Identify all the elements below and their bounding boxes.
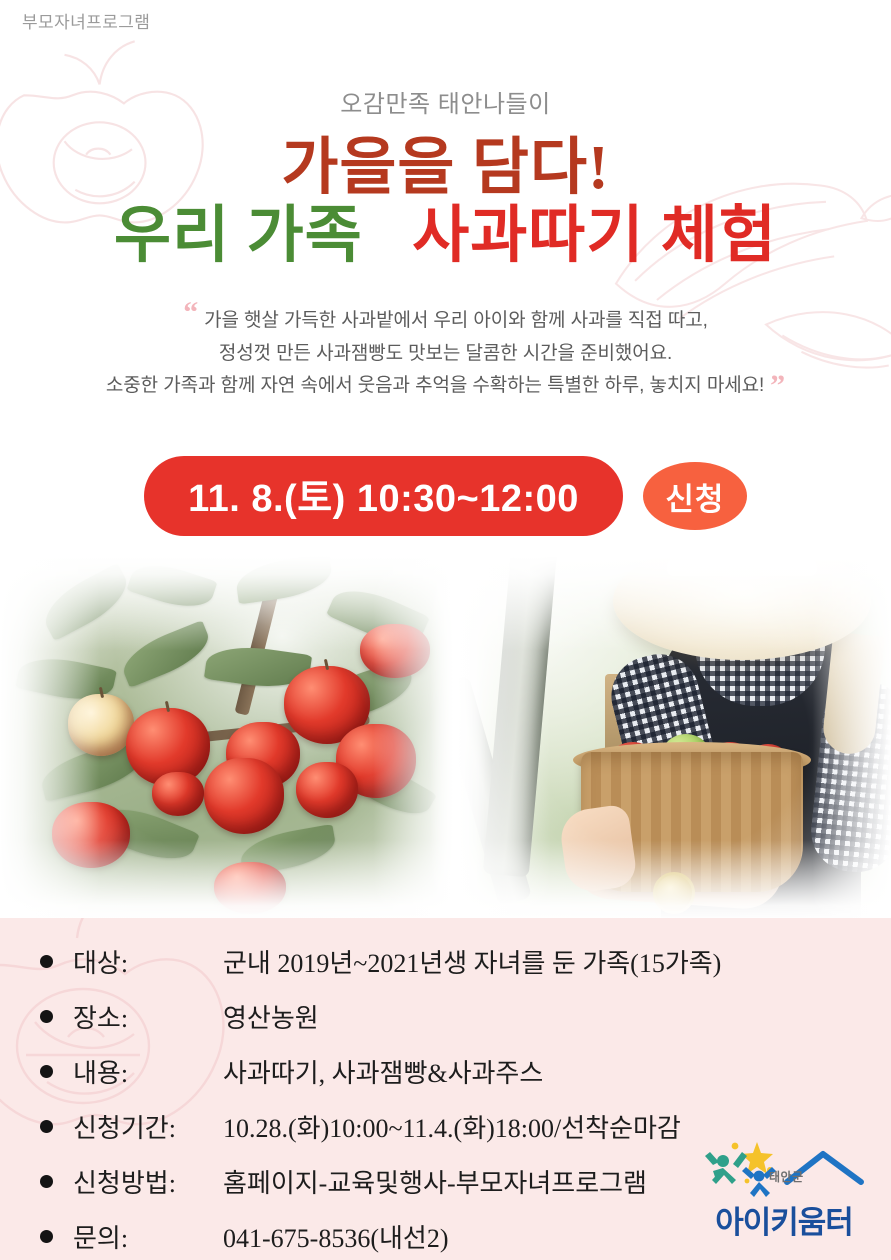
apple [68, 694, 134, 756]
main-title-line1: 가을을 담다! [0, 136, 891, 201]
photo-person-basket [455, 556, 891, 920]
main-title-green-part: 우리 가족 [114, 202, 363, 270]
list-item: 대상: 군내 2019년~2021년생 자녀를 둔 가족(15가족) [0, 934, 891, 989]
schedule-row: 11. 8.(토) 10:30~12:00 신청 [0, 456, 891, 536]
info-label: 문의: [73, 1218, 223, 1255]
apple [360, 624, 430, 678]
description-line-2: 정성껏 만든 사과잼빵도 맛보는 달콤한 시간을 준비했어요. [0, 338, 891, 371]
info-panel: 대상: 군내 2019년~2021년생 자녀를 둔 가족(15가족) 장소: 영… [0, 918, 891, 1260]
info-value: 041-675-8536(내선2) [223, 1218, 448, 1255]
info-label: 신청기간: [73, 1108, 223, 1145]
main-title-red-part: 사과따기 체험 [412, 202, 777, 270]
description-line-1: “가을 햇살 가득한 사과밭에서 우리 아이와 함께 사과를 직접 따고, [0, 305, 891, 338]
apple [214, 862, 286, 914]
description-block: “가을 햇살 가득한 사과밭에서 우리 아이와 함께 사과를 직접 따고, 정성… [0, 305, 891, 403]
photo-apple-tree [0, 556, 455, 920]
apple [204, 758, 284, 834]
photo-band [0, 556, 891, 920]
bullet-icon [40, 1065, 53, 1078]
program-kicker: 부모자녀프로그램 [22, 8, 150, 33]
apply-button[interactable]: 신청 [643, 462, 747, 530]
poster-root: 부모자녀프로그램 오감만족 태안나들이 가을을 담다! 우리 가족 사과따기 체… [0, 0, 891, 1260]
bullet-icon [40, 1010, 53, 1023]
info-label: 대상: [73, 943, 223, 980]
bullet-icon [40, 1175, 53, 1188]
info-label: 장소: [73, 998, 223, 1035]
info-label: 내용: [73, 1053, 223, 1090]
info-value: 영산농원 [223, 998, 319, 1035]
bullet-icon [40, 1120, 53, 1133]
straw-hat-band [667, 560, 817, 576]
info-value: 홈페이지-교육및행사-부모자녀프로그램 [223, 1163, 647, 1200]
apple [296, 762, 358, 818]
event-date-pill: 11. 8.(토) 10:30~12:00 [144, 456, 623, 536]
list-item: 장소: 영산농원 [0, 989, 891, 1044]
info-value: 군내 2019년~2021년생 자녀를 둔 가족(15가족) [223, 943, 721, 980]
description-text-3: 소중한 가족과 함께 자연 속에서 웃음과 추억을 수확하는 특별한 하루, 놓… [106, 375, 764, 396]
apple [52, 802, 130, 868]
description-line-3: 소중한 가족과 함께 자연 속에서 웃음과 추억을 수확하는 특별한 하루, 놓… [0, 370, 891, 403]
apple [152, 772, 204, 816]
logo-name: 아이키움터 [695, 1197, 873, 1242]
info-label: 신청방법: [73, 1163, 223, 1200]
logo-region-label: 태안군 [769, 1168, 804, 1185]
bullet-icon [40, 955, 53, 968]
organization-logo: 태안군 아이키움터 [695, 1134, 873, 1246]
bullet-icon [40, 1230, 53, 1243]
description-text-1: 가을 햇살 가득한 사과밭에서 우리 아이와 함께 사과를 직접 따고, [204, 310, 708, 331]
info-value: 10.28.(화)10:00~11.4.(화)18:00/선착순마감 [223, 1108, 681, 1145]
wristwatch [653, 872, 695, 914]
main-title-line2: 우리 가족 사과따기 체험 [0, 204, 891, 269]
info-value: 사과따기, 사과잼빵&사과주스 [223, 1053, 543, 1090]
quote-open-icon: “ [183, 296, 198, 329]
sub-title: 오감만족 태안나들이 [0, 84, 891, 119]
list-item: 내용: 사과따기, 사과잼빵&사과주스 [0, 1044, 891, 1099]
quote-close-icon: ” [770, 369, 785, 402]
